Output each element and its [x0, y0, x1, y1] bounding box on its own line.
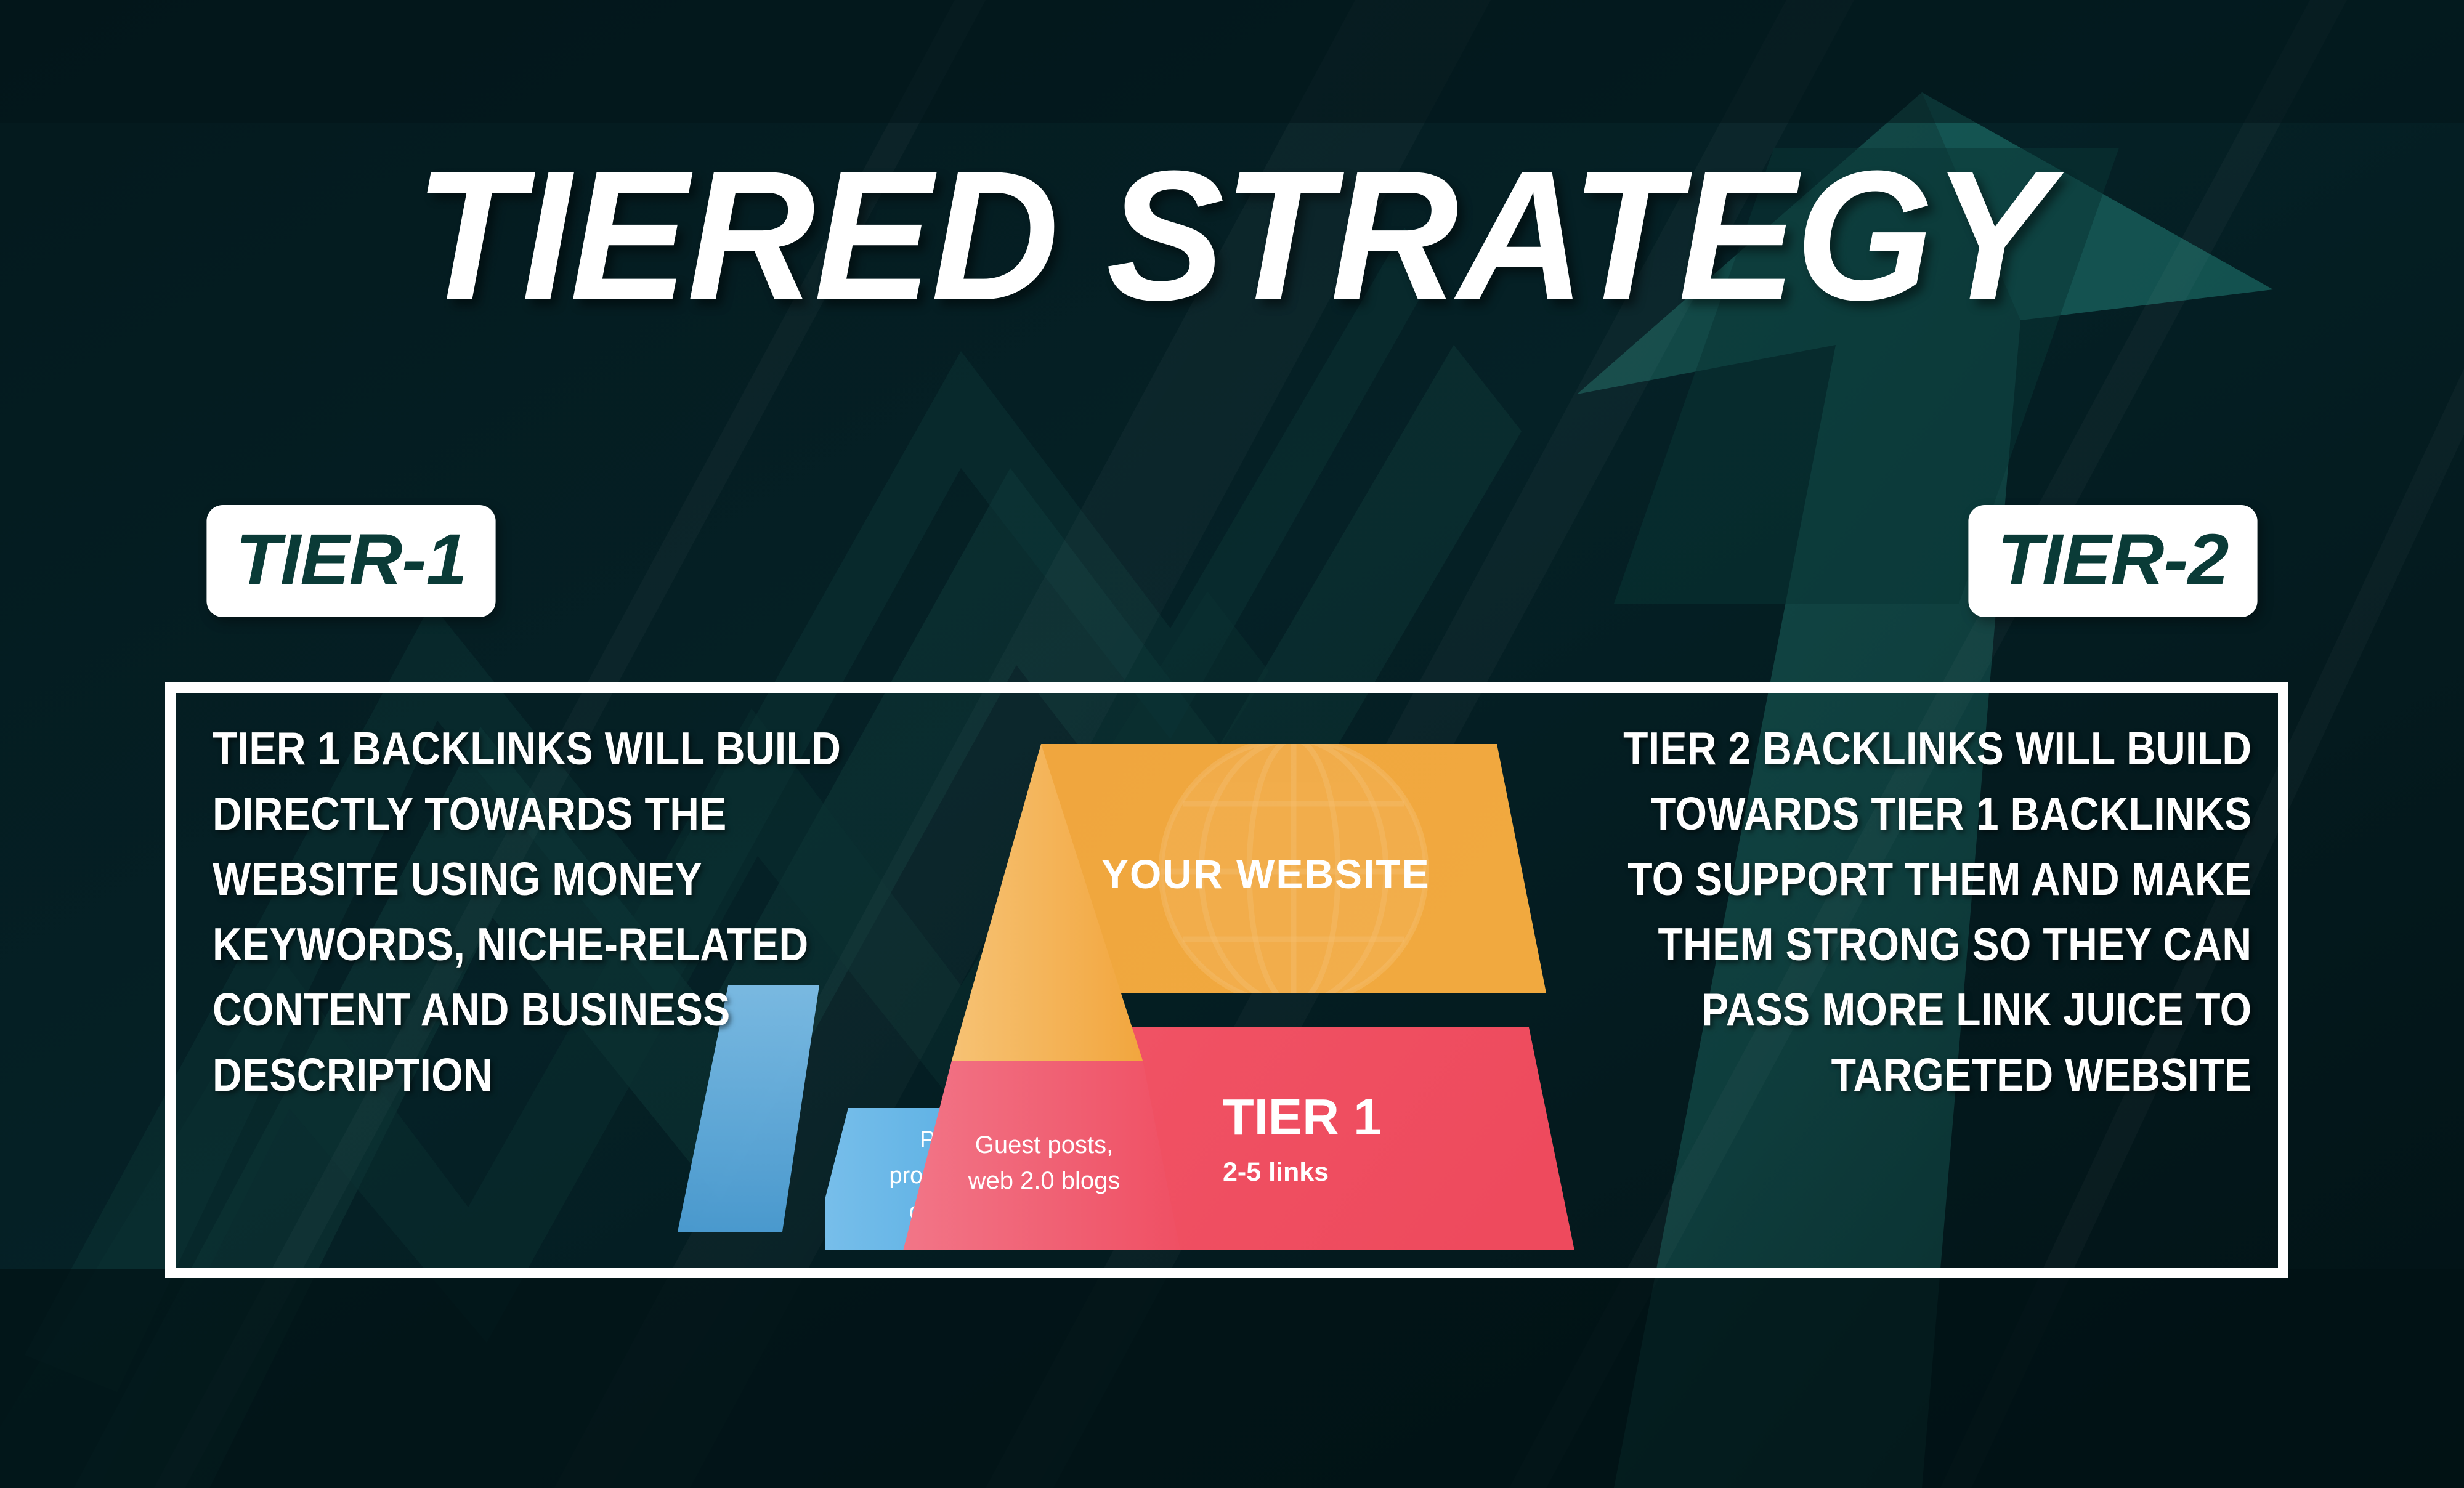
left-line-5: CONTENT AND BUSINESS — [213, 977, 841, 1042]
right-description: TIER 2 BACKLINKS WILL BUILD TOWARDS TIER… — [1623, 716, 2251, 1107]
left-line-3: WEBSITE USING MONEY — [213, 846, 841, 912]
left-description: TIER 1 BACKLINKS WILL BUILD DIRECTLY TOW… — [213, 716, 841, 1107]
badge-tier-1: TIER-1 — [206, 505, 495, 617]
tier-pyramid-diagram: TIER 2 5-10 links PBNs, article director… — [825, 696, 1712, 1250]
tier-1-face-line-2: web 2.0 blogs — [968, 1167, 1121, 1194]
tier-1-band-sublabel: 2-5 links — [1223, 1157, 1329, 1187]
left-line-2: DIRECTLY TOWARDS THE — [213, 781, 841, 846]
right-line-5: PASS MORE LINK JUICE TO — [1623, 977, 2251, 1042]
tier-pyramid-graphic: TIER 2 5-10 links PBNs, article director… — [825, 696, 1712, 1250]
left-line-1: TIER 1 BACKLINKS WILL BUILD — [213, 716, 841, 781]
pyramid-level-your-website: YOUR WEBSITE — [952, 739, 1546, 1061]
right-line-4: THEM STRONG SO THEY CAN — [1623, 912, 2251, 977]
left-line-6: DESCRIPTION — [213, 1042, 841, 1107]
pyramid-level-tier-1: TIER 1 2-5 links Guest posts, web 2.0 bl… — [884, 1027, 1578, 1250]
badge-tier-2: TIER-2 — [1969, 505, 2258, 617]
right-line-3: TO SUPPORT THEM AND MAKE — [1623, 846, 2251, 912]
right-line-2: TOWARDS TIER 1 BACKLINKS — [1623, 781, 2251, 846]
right-line-6: TARGETED WEBSITE — [1623, 1042, 2251, 1107]
tier-1-band-label: TIER 1 — [1223, 1088, 1382, 1146]
right-line-1: TIER 2 BACKLINKS WILL BUILD — [1623, 716, 2251, 781]
your-website-band-label: YOUR WEBSITE — [1101, 851, 1430, 897]
tier-1-face-line-1: Guest posts, — [975, 1131, 1114, 1158]
page-title: TIERED STRATEGY — [49, 143, 2415, 328]
left-line-4: KEYWORDS, NICHE-RELATED — [213, 912, 841, 977]
